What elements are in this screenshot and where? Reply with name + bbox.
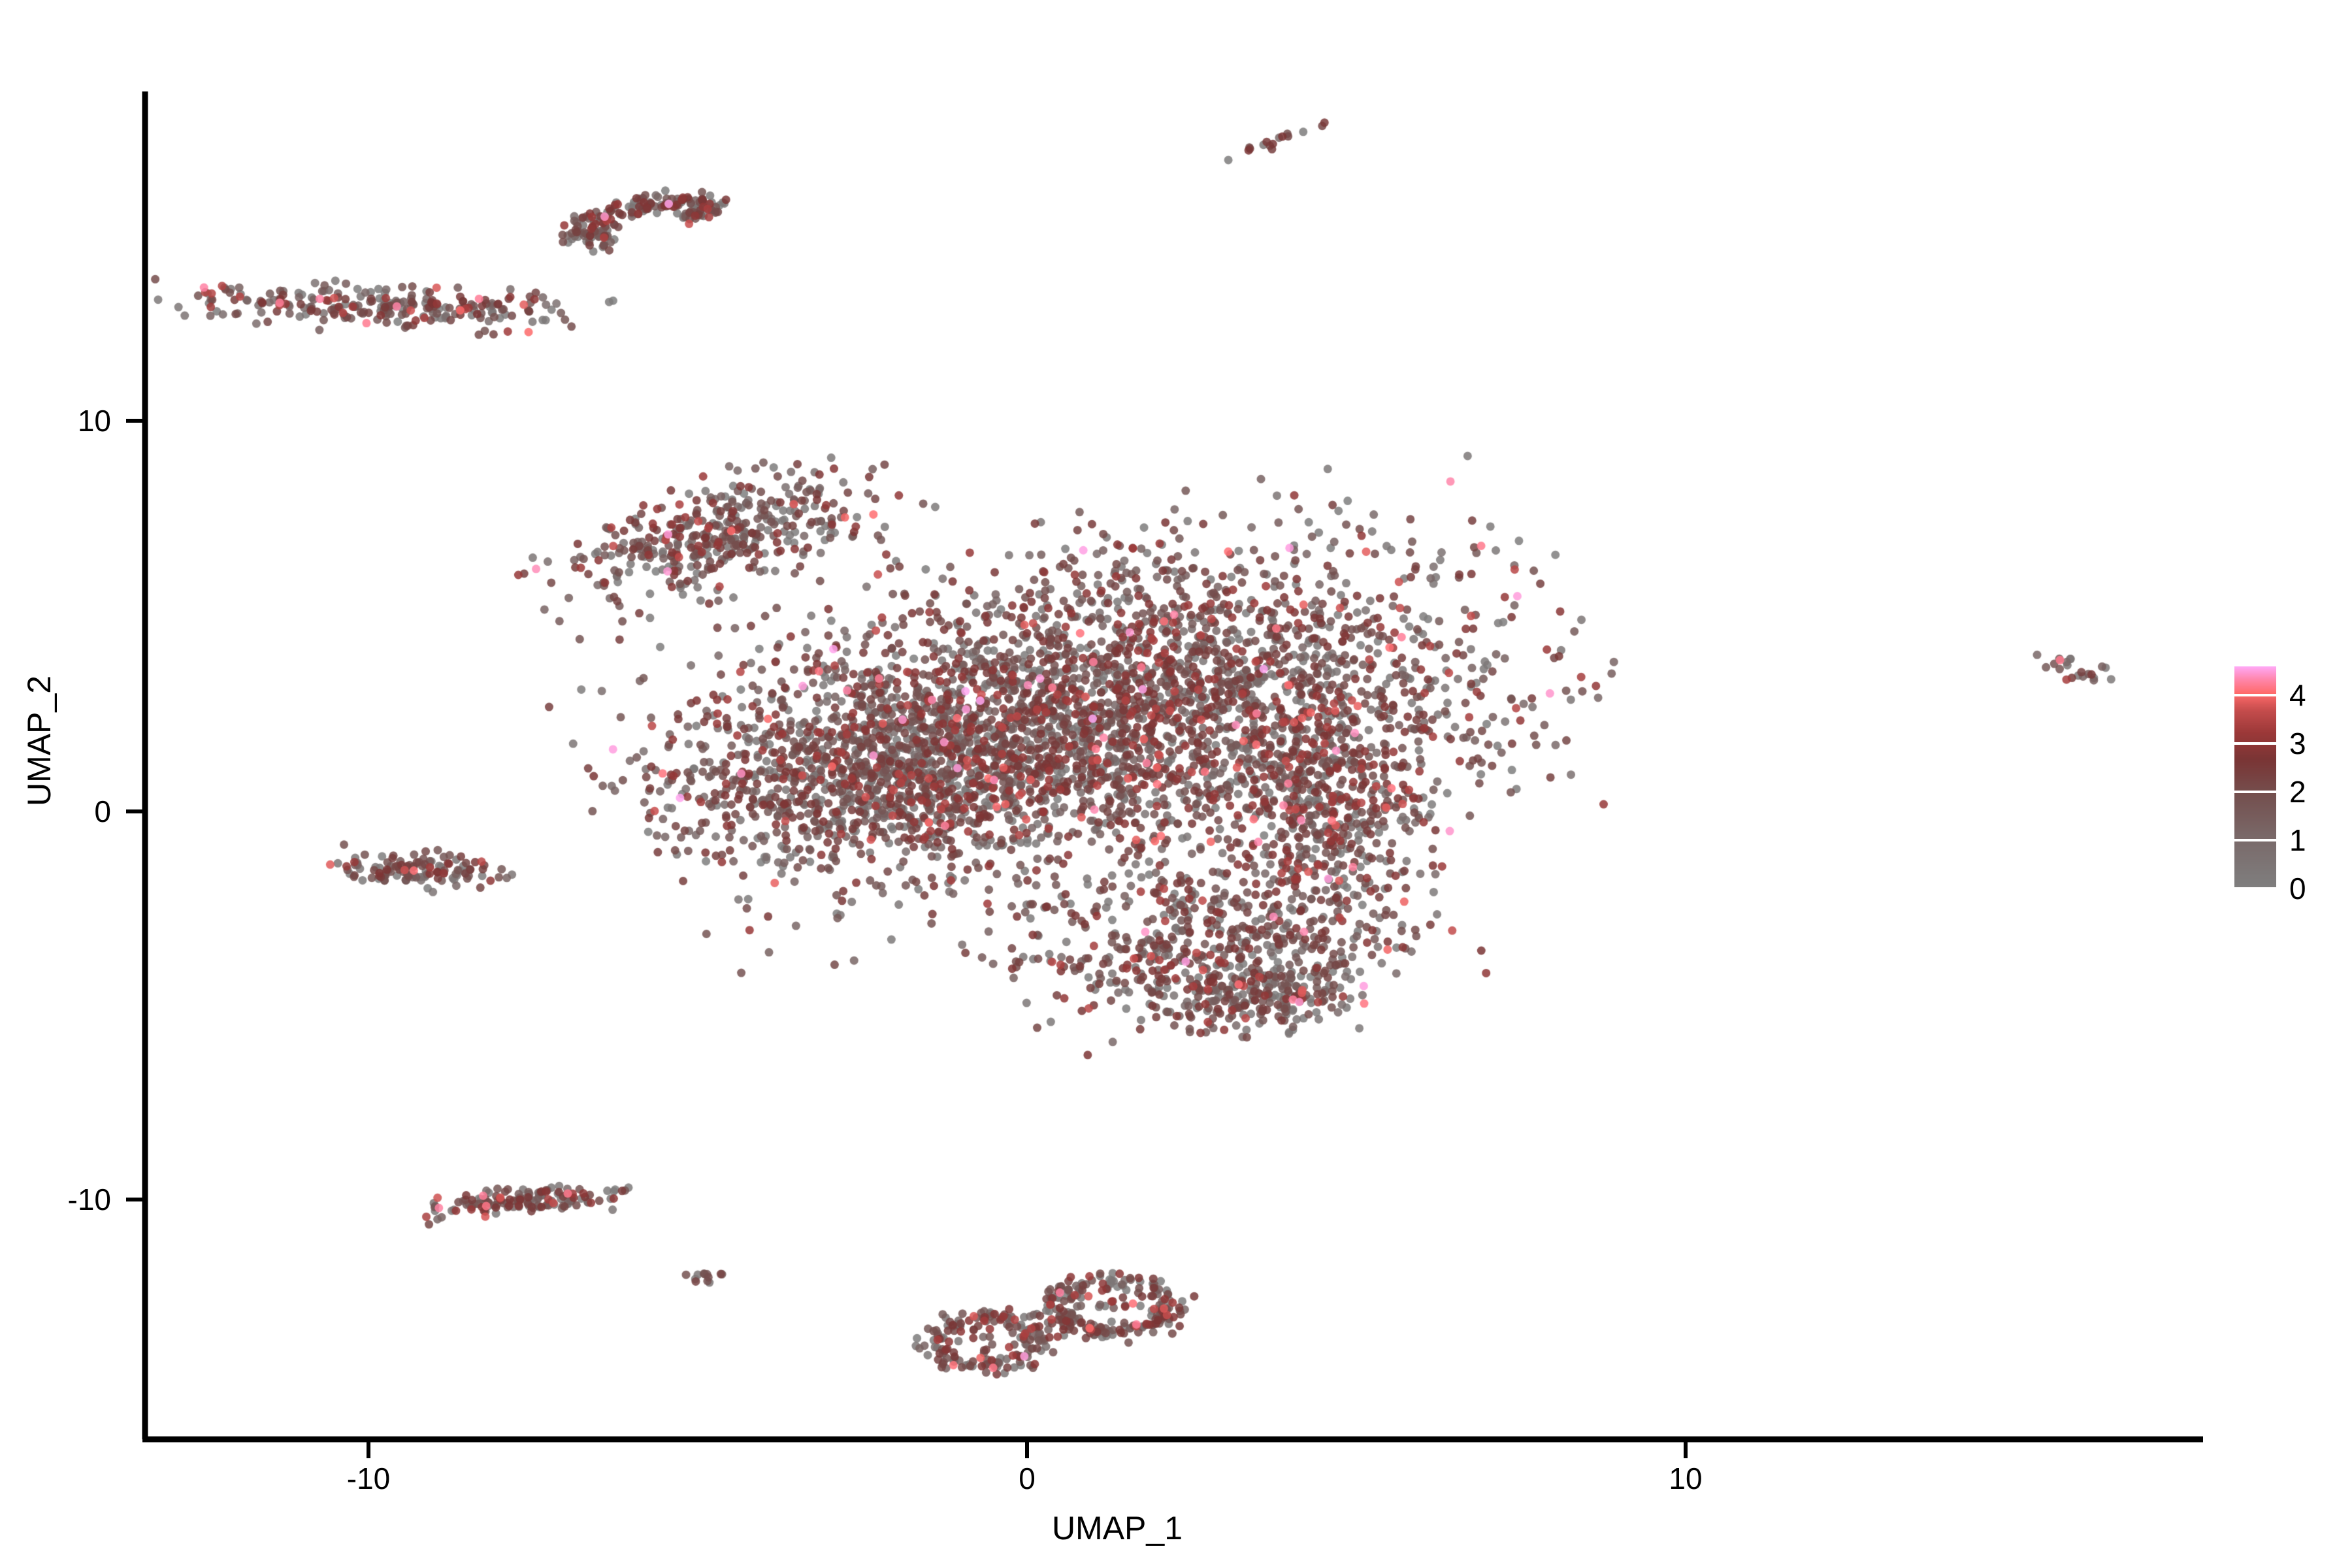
colorbar-tick xyxy=(2234,791,2276,793)
x-tick-label-neg10: -10 xyxy=(347,1461,390,1496)
x-axis-label: UMAP_1 xyxy=(0,1509,2234,1547)
colorbar-label-1: 1 xyxy=(2289,823,2306,858)
axis-lines xyxy=(0,0,2352,1568)
colorbar-tick xyxy=(2234,742,2276,745)
colorbar-tick xyxy=(2234,839,2276,841)
colorbar-label-2: 2 xyxy=(2289,774,2306,809)
colorbar-tick xyxy=(2234,694,2276,696)
x-tick-label-10: 10 xyxy=(1669,1461,1702,1496)
umap-feature-plot: D430041D05Rik -10 0 10 10 0 -10 UMAP_1 U… xyxy=(0,0,2352,1568)
colorbar-label-0: 0 xyxy=(2289,871,2306,906)
y-tick-label-10: 10 xyxy=(39,403,111,438)
y-axis-label: UMAP_2 xyxy=(20,545,58,937)
colorbar-tick xyxy=(2234,887,2276,890)
x-tick-label-0: 0 xyxy=(1019,1461,1036,1496)
colorbar-label-4: 4 xyxy=(2289,678,2306,713)
colorbar-label-3: 3 xyxy=(2289,726,2306,761)
y-tick-label-neg10: -10 xyxy=(26,1182,111,1217)
plot-canvas-area xyxy=(0,0,2352,1568)
colorbar-gradient xyxy=(2234,666,2276,889)
colorbar-legend: 4 3 2 1 0 xyxy=(2234,666,2345,889)
